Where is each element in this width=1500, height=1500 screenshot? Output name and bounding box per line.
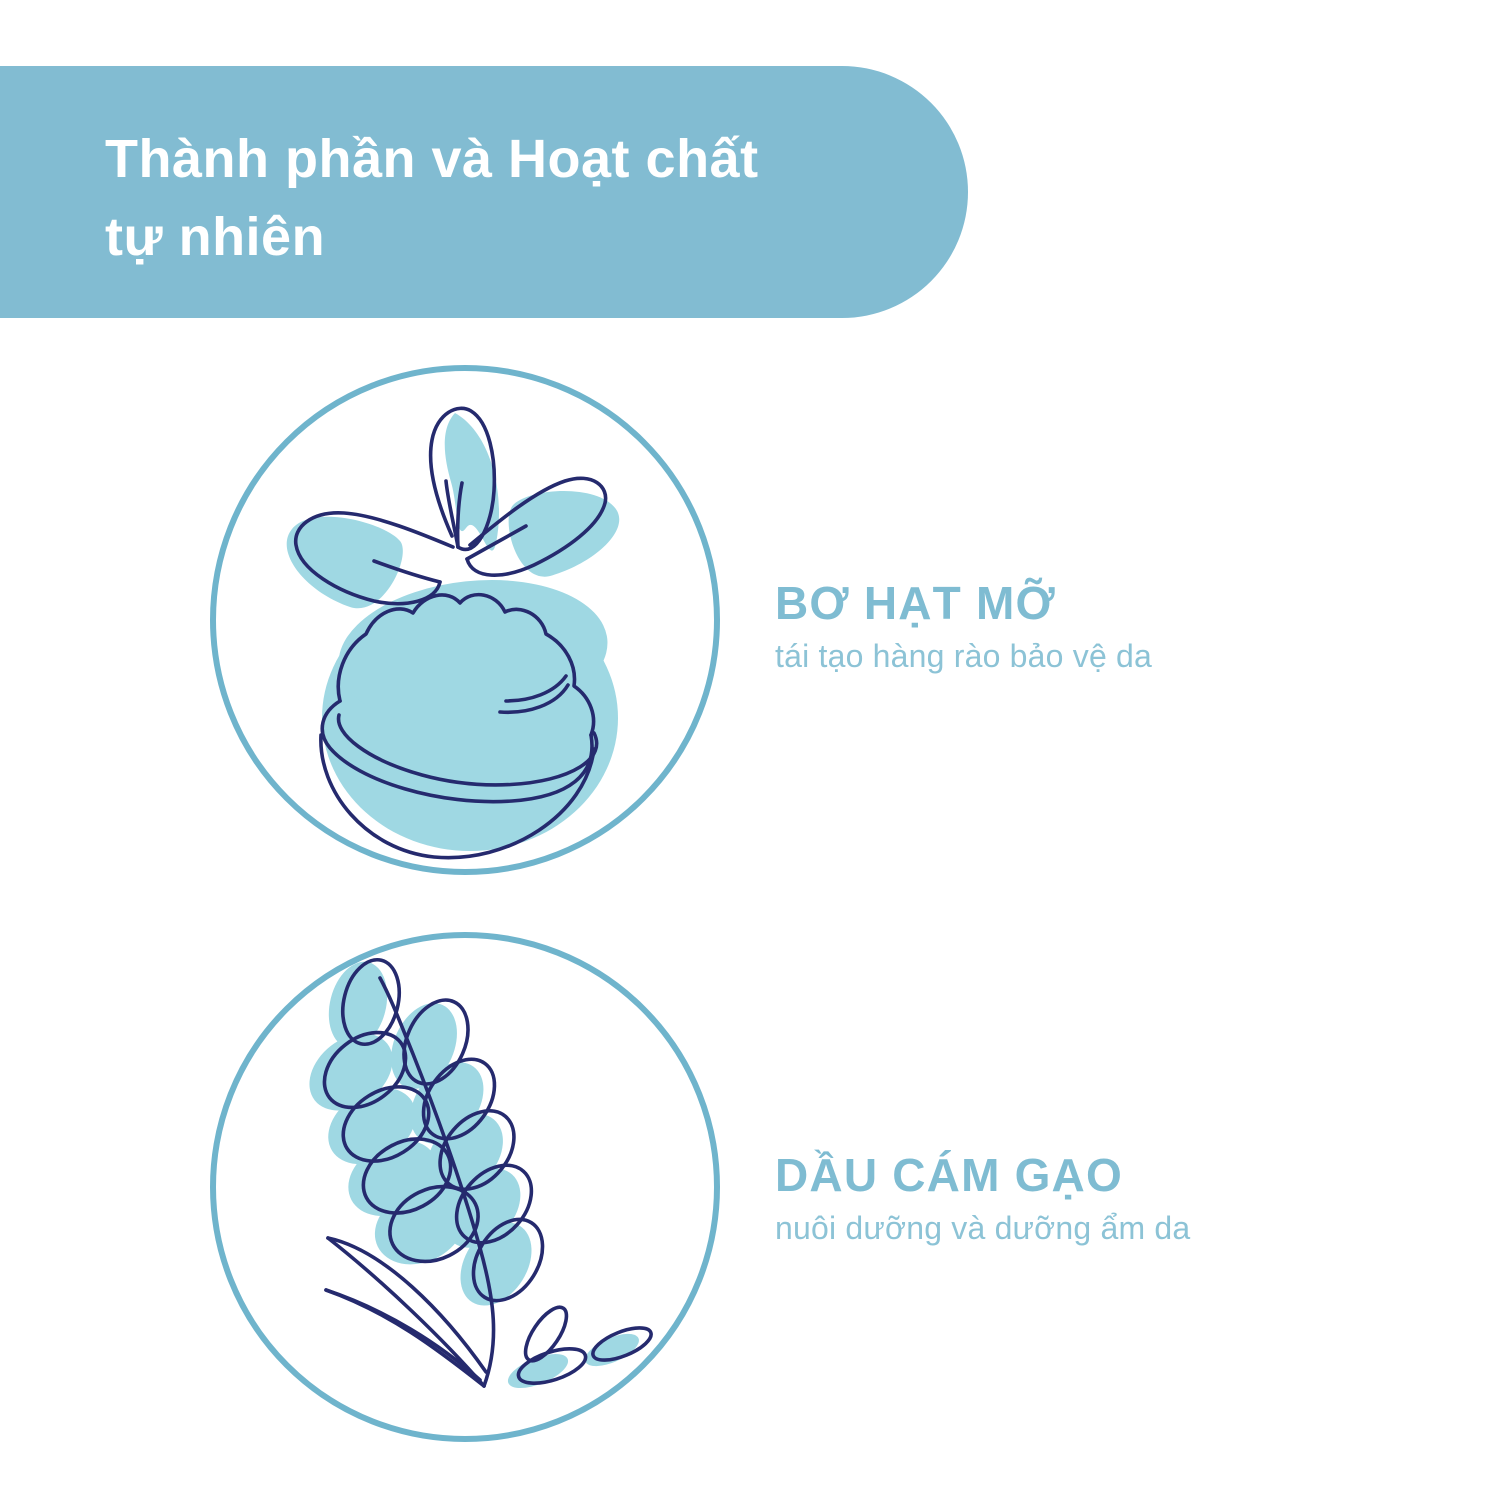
shea-butter-bowl-icon <box>208 363 722 877</box>
rice-stalk-icon <box>208 930 722 1444</box>
infographic-page: Thành phần và Hoạt chất tự nhiên <box>0 0 1500 1500</box>
ingredient-subtitle: tái tạo hàng rào bảo vệ da <box>775 634 1152 678</box>
ingredient-subtitle: nuôi dưỡng và dưỡng ẩm da <box>775 1206 1190 1250</box>
ingredient-text-block: BƠ HẠT MỠ tái tạo hàng rào bảo vệ da <box>775 576 1152 678</box>
page-title: Thành phần và Hoạt chất tự nhiên <box>105 120 895 276</box>
ingredient-title: DẦU CÁM GẠO <box>775 1148 1190 1202</box>
ingredient-title: BƠ HẠT MỠ <box>775 576 1152 630</box>
ingredient-text-block: DẦU CÁM GẠO nuôi dưỡng và dưỡng ẩm da <box>775 1148 1190 1250</box>
